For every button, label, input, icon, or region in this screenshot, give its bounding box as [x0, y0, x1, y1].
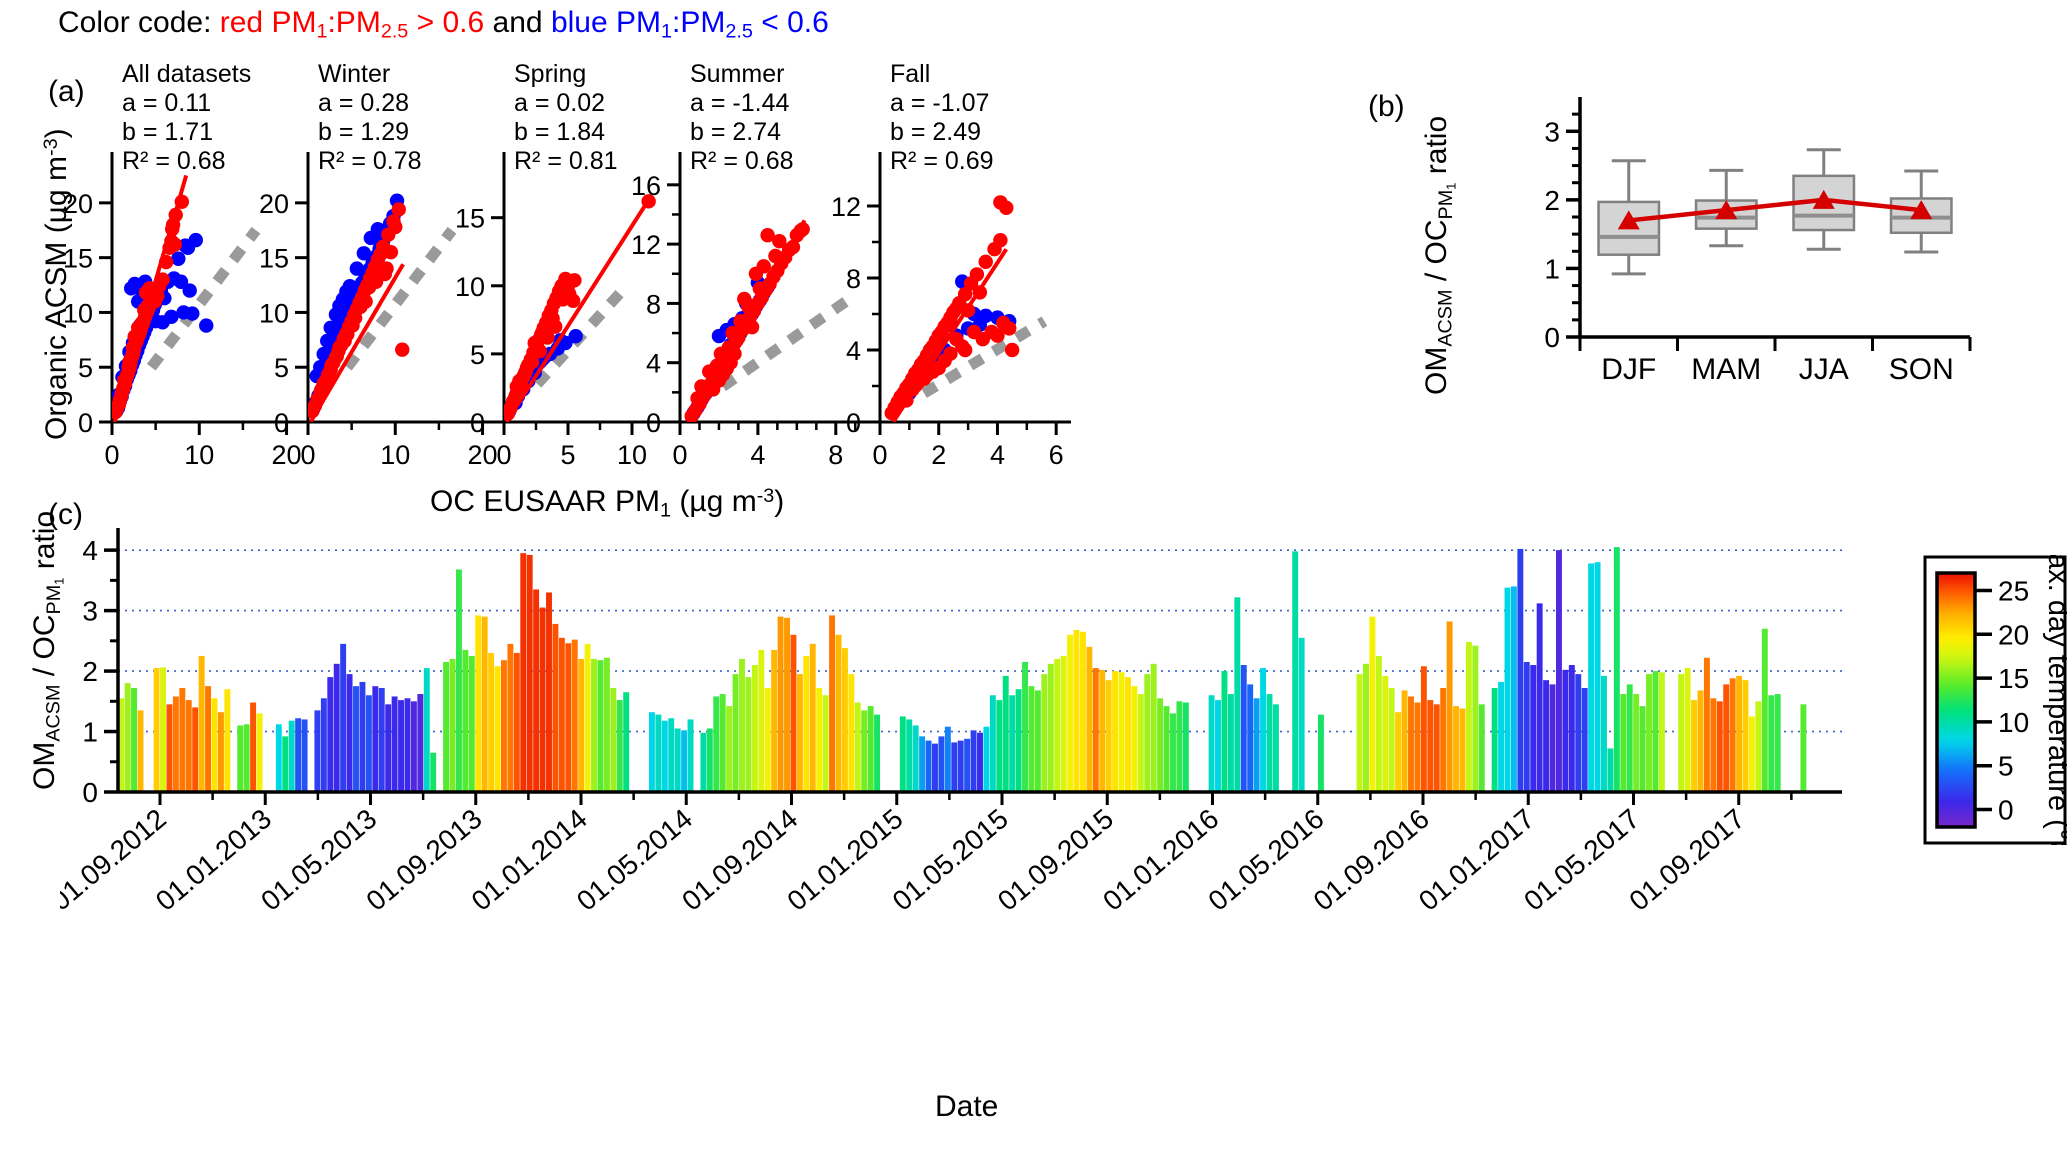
svg-text:b = 1.84: b = 1.84	[514, 118, 605, 146]
svg-text:0: 0	[496, 440, 511, 470]
svg-text:0: 0	[1544, 322, 1560, 353]
svg-text:01.01.2014: 01.01.2014	[466, 803, 593, 917]
svg-text:20: 20	[272, 440, 302, 470]
svg-text:R² = 0.68: R² = 0.68	[690, 147, 794, 175]
svg-text:20: 20	[63, 189, 93, 219]
svg-text:JJA: JJA	[1799, 353, 1849, 386]
svg-text:3: 3	[1544, 116, 1560, 147]
svg-text:10: 10	[184, 440, 214, 470]
svg-text:0: 0	[672, 440, 687, 470]
svg-text:01.01.2016: 01.01.2016	[1097, 803, 1224, 917]
svg-text:0: 0	[646, 408, 661, 438]
svg-text:5: 5	[78, 353, 93, 383]
svg-text:a = -1.07: a = -1.07	[890, 89, 989, 117]
svg-text:2: 2	[1544, 185, 1560, 216]
svg-text:R² = 0.68: R² = 0.68	[122, 147, 226, 175]
svg-text:5: 5	[560, 440, 575, 470]
svg-text:01.09.2014: 01.09.2014	[676, 803, 803, 917]
svg-text:01.05.2013: 01.05.2013	[255, 803, 382, 917]
svg-text:10: 10	[259, 298, 289, 328]
svg-text:01.09.2013: 01.09.2013	[360, 803, 487, 917]
svg-text:01.09.2015: 01.09.2015	[992, 803, 1119, 917]
svg-text:16: 16	[631, 171, 661, 201]
svg-text:4: 4	[82, 535, 98, 566]
svg-text:12: 12	[831, 192, 861, 222]
svg-text:Summer: Summer	[690, 60, 784, 88]
svg-text:01.01.2013: 01.01.2013	[150, 803, 277, 917]
svg-text:01.09.2017: 01.09.2017	[1623, 803, 1750, 917]
svg-text:SON: SON	[1889, 353, 1954, 386]
svg-text:1: 1	[82, 717, 98, 748]
svg-text:01.05.2014: 01.05.2014	[571, 803, 698, 917]
svg-text:0: 0	[1998, 794, 2014, 825]
svg-text:25: 25	[1998, 576, 2029, 607]
svg-text:R² = 0.78: R² = 0.78	[318, 147, 422, 175]
svg-text:0: 0	[82, 777, 98, 808]
svg-text:8: 8	[646, 289, 661, 319]
svg-text:01.01.2015: 01.01.2015	[781, 803, 908, 917]
panel-c-timeseries: 0123401.09.201201.01.201301.05.201301.09…	[60, 510, 1850, 1130]
svg-text:Spring: Spring	[514, 60, 586, 88]
panel-a-scatter-grid: All datasetsa = 0.11b = 1.71R² = 0.68510…	[60, 60, 1350, 490]
svg-text:8: 8	[846, 264, 861, 294]
svg-text:Winter: Winter	[318, 60, 390, 88]
svg-text:10: 10	[63, 298, 93, 328]
svg-text:5: 5	[1998, 751, 2014, 782]
svg-text:4: 4	[990, 440, 1005, 470]
svg-text:R² = 0.81: R² = 0.81	[514, 147, 618, 175]
svg-text:MAM: MAM	[1691, 353, 1761, 386]
svg-text:4: 4	[750, 440, 765, 470]
svg-text:20: 20	[468, 440, 498, 470]
svg-text:01.09.2016: 01.09.2016	[1308, 803, 1435, 917]
svg-text:20: 20	[259, 189, 289, 219]
svg-text:15: 15	[259, 244, 289, 274]
svg-text:10: 10	[1998, 707, 2029, 738]
title-conjunction: and	[484, 6, 551, 39]
colorbar-legend: 0510152025Max. day temperature (°C)	[1923, 555, 2067, 845]
svg-text:20: 20	[1998, 619, 2029, 650]
svg-text:01.05.2016: 01.05.2016	[1202, 803, 1329, 917]
svg-text:6: 6	[1049, 440, 1064, 470]
svg-text:b = 1.71: b = 1.71	[122, 118, 213, 146]
svg-text:a = 0.28: a = 0.28	[318, 89, 409, 117]
svg-text:15: 15	[1998, 663, 2029, 694]
svg-text:1: 1	[1544, 253, 1560, 284]
title-red-condition: red PM1:PM2.5 > 0.6	[220, 6, 484, 39]
svg-text:0: 0	[274, 408, 289, 438]
panel-b-boxplot: 0123DJFMAMJJASON	[1450, 75, 2010, 415]
svg-text:a = 0.11: a = 0.11	[122, 89, 211, 117]
svg-text:0: 0	[470, 408, 485, 438]
svg-text:a = 0.02: a = 0.02	[514, 89, 605, 117]
svg-text:0: 0	[300, 440, 315, 470]
svg-text:01.05.2017: 01.05.2017	[1518, 803, 1645, 917]
svg-text:b = 1.29: b = 1.29	[318, 118, 409, 146]
svg-text:Fall: Fall	[890, 60, 930, 88]
svg-text:15: 15	[63, 244, 93, 274]
svg-text:2: 2	[82, 656, 98, 687]
svg-text:5: 5	[470, 340, 485, 370]
svg-text:12: 12	[631, 230, 661, 260]
svg-text:01.05.2015: 01.05.2015	[887, 803, 1014, 917]
svg-text:a = -1.44: a = -1.44	[690, 89, 789, 117]
svg-text:10: 10	[617, 440, 647, 470]
svg-text:8: 8	[828, 440, 843, 470]
panel-label-b: (b)	[1368, 90, 1405, 124]
svg-text:5: 5	[274, 353, 289, 383]
svg-text:b = 2.74: b = 2.74	[690, 118, 781, 146]
title-prefix: Color code:	[58, 6, 220, 39]
svg-text:R² = 0.69: R² = 0.69	[890, 147, 994, 175]
svg-text:01.01.2017: 01.01.2017	[1413, 803, 1540, 917]
svg-text:0: 0	[872, 440, 887, 470]
svg-text:4: 4	[846, 336, 861, 366]
svg-text:4: 4	[646, 349, 661, 379]
svg-text:15: 15	[455, 204, 485, 234]
svg-text:0: 0	[78, 408, 93, 438]
svg-text:2: 2	[931, 440, 946, 470]
color-code-title: Color code: red PM1:PM2.5 > 0.6 and blue…	[58, 6, 829, 44]
svg-text:All datasets: All datasets	[122, 60, 251, 88]
svg-text:10: 10	[455, 272, 485, 302]
title-blue-condition: blue PM1:PM2.5 < 0.6	[551, 6, 829, 39]
svg-text:b = 2.49: b = 2.49	[890, 118, 981, 146]
svg-text:Max. day temperature (°C): Max. day temperature (°C)	[2042, 555, 2067, 845]
panel-c-xlabel: Date	[935, 1090, 998, 1124]
svg-text:0: 0	[104, 440, 119, 470]
svg-text:0: 0	[846, 408, 861, 438]
svg-text:3: 3	[82, 596, 98, 627]
svg-text:10: 10	[380, 440, 410, 470]
svg-text:DJF: DJF	[1601, 353, 1656, 386]
